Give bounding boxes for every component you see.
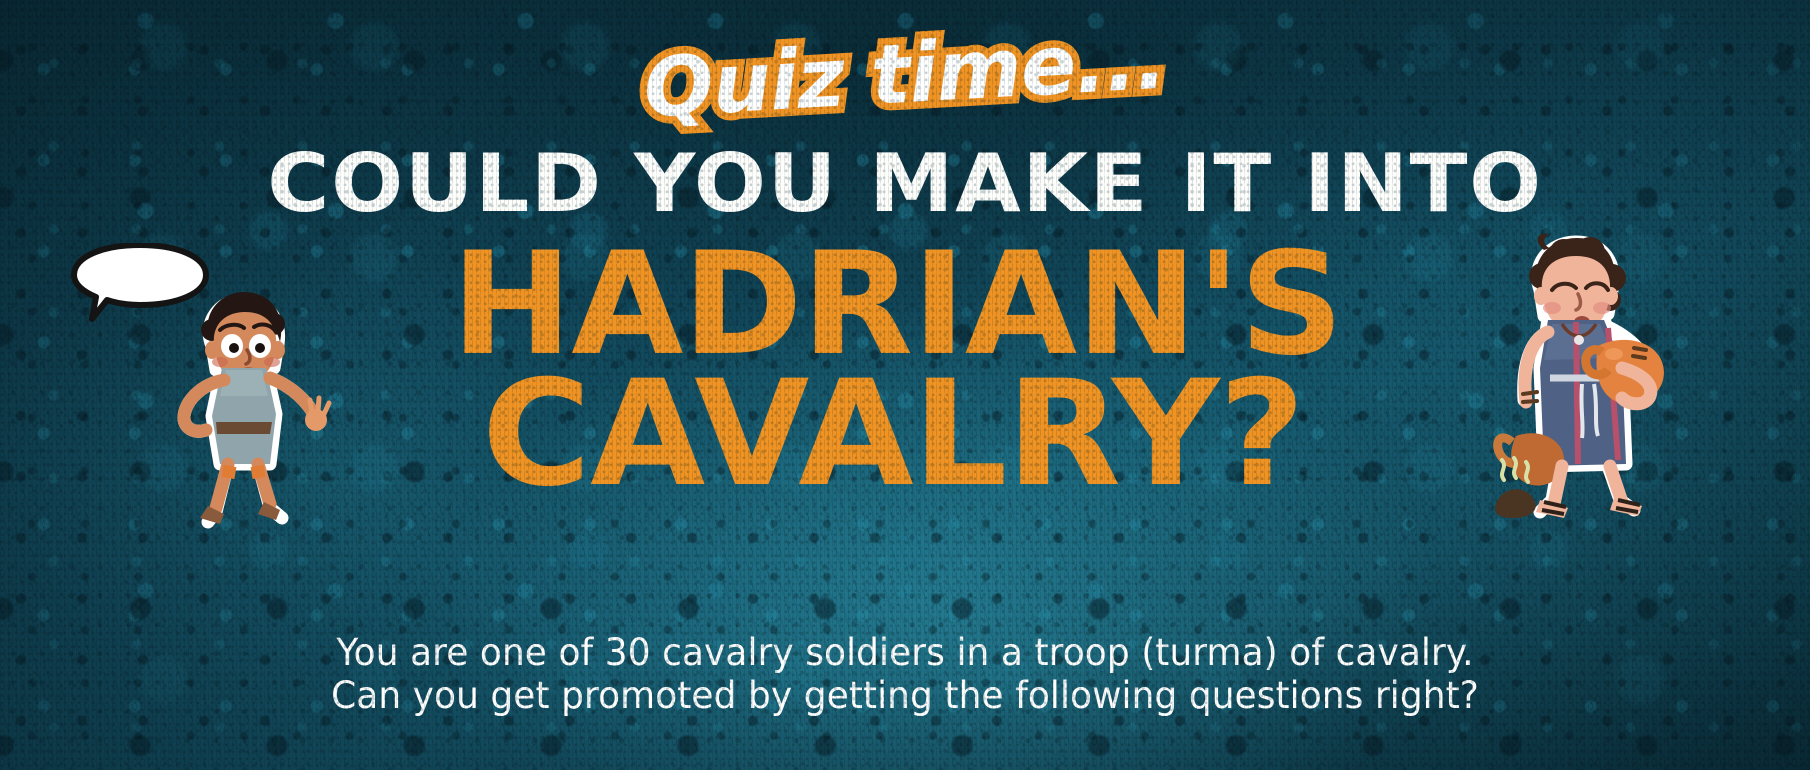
- quiz-banner: Quiz time... COULD YOU MAKE IT INTO HADR…: [0, 0, 1810, 770]
- speech-bubble-icon: [70, 243, 210, 323]
- roman-woman-illustration: [1482, 228, 1697, 528]
- subtitle-block: You are one of 30 cavalry soldiers in a …: [205, 632, 1605, 718]
- headline-white: COULD YOU MAKE IT INTO: [303, 147, 1506, 221]
- headline-white-text: COULD YOU MAKE IT INTO: [267, 147, 1543, 221]
- subtitle-line-1: You are one of 30 cavalry soldiers in a …: [226, 632, 1584, 675]
- subtitle-line-2: Can you get promoted by getting the foll…: [226, 675, 1584, 718]
- headline-orange-cavalry: CAVALRY?: [490, 370, 1296, 498]
- headline-orange-cavalry-text: CAVALRY?: [482, 370, 1304, 498]
